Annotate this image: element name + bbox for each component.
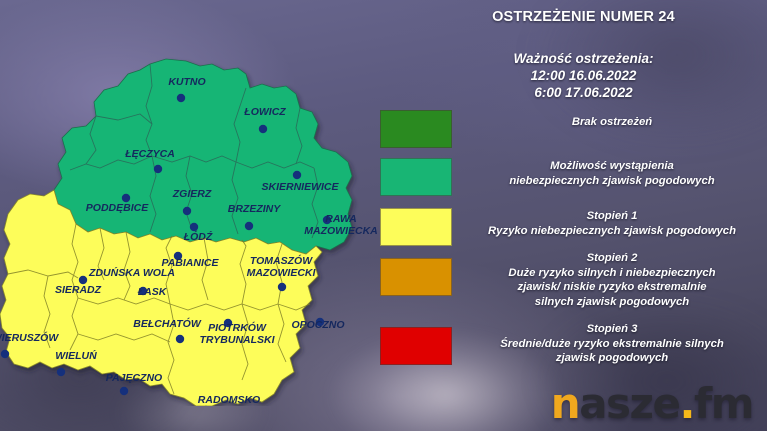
city-dot [79,276,87,284]
legend-label: Możliwość wystąpienianiebezpiecznych zja… [462,159,762,188]
city-dot [1,350,9,358]
legend-swatch [380,110,452,148]
city-label: SIERADZ [55,284,102,296]
city-label: KUTNO [168,76,205,88]
city-label: MAZOWIECKA [304,225,378,237]
city-label: PODDĘBICE [86,202,149,214]
city-dot [120,387,128,395]
city-label: MAZOWIECKI [247,267,317,279]
legend-swatch [380,158,452,196]
city-label: ŁÓDŹ [183,230,213,243]
lodz-voivodeship-map: KUTNOŁOWICZŁĘCZYCASKIERNIEWICEZGIERZPODD… [0,28,400,406]
city-dot [293,171,301,179]
legend-label-line: zjawisk/ niskie ryzyko ekstremalnie [462,280,762,295]
legend-label: Brak ostrzeżeń [462,115,762,130]
city-label: SKIERNIEWICE [261,181,339,193]
city-label: ŁOWICZ [243,106,286,118]
city-label: TOMASZÓW [250,254,313,267]
legend-swatch [380,208,452,246]
legend-label: Stopień 3Średnie/duże ryzyko ekstremalni… [462,322,762,366]
city-label: ZDUŃSKA WOLA [88,266,175,279]
city-label: ZGIERZ [172,188,212,200]
city-label: OPOCZNO [291,319,344,331]
city-label: ŁASK [137,286,168,298]
map-svg: KUTNOŁOWICZŁĘCZYCASKIERNIEWICEZGIERZPODD… [0,28,400,406]
city-dot [177,94,185,102]
legend-label: Stopień 1Ryzyko niebezpiecznych zjawisk … [462,209,762,238]
city-dot [259,125,267,133]
legend-label-line: Ryzyko niebezpiecznych zjawisk pogodowyc… [462,224,762,239]
weather-warning-graphic: KUTNOŁOWICZŁĘCZYCASKIERNIEWICEZGIERZPODD… [0,0,767,431]
city-label: BEŁCHATÓW [133,317,202,330]
city-label: BRZEZINY [228,203,281,215]
legend-label-line: zjawisk pogodowych [462,351,762,366]
city-dot [190,223,198,231]
city-label: PAJĘCZNO [106,372,162,384]
legend-label-line: Duże ryzyko silnych i niebezpiecznych [462,266,762,281]
city-dot [183,207,191,215]
legend-label-line: Brak ostrzeżeń [462,115,762,130]
city-dot [176,335,184,343]
logo-text-fm: fm [694,379,753,428]
legend-label-line: Średnie/duże ryzyko ekstremalnie silnych [462,337,762,352]
city-label: RADOMSKO [198,394,260,406]
logo-text-asze: asze [579,379,679,428]
logo-letter-n: n [551,379,579,428]
legend-label-line: Stopień 3 [462,322,762,337]
validity-from: 12:00 16.06.2022 [400,67,767,84]
warning-title: OSTRZEŻENIE NUMER 24 [400,9,767,25]
city-label: TRYBUNALSKI [199,334,275,346]
city-label: PIOTRKÓW [208,321,267,334]
legend-swatch [380,327,452,365]
legend-swatch [380,258,452,296]
logo-dot: . [679,379,693,428]
city-dot [245,222,253,230]
legend-label-line: Stopień 1 [462,209,762,224]
city-dot [154,165,162,173]
city-label: RAWA [325,213,357,225]
legend-label-line: silnych zjawisk pogodowych [462,295,762,310]
city-label: ŁĘCZYCA [124,148,175,160]
map-regions [0,59,352,406]
validity-block: Ważność ostrzeżenia: 12:00 16.06.2022 6:… [400,50,767,101]
legend-label-line: Możliwość wystąpienia [462,159,762,174]
validity-to: 6:00 17.06.2022 [400,84,767,101]
legend-label-line: niebezpiecznych zjawisk pogodowych [462,174,762,189]
city-dot [278,283,286,291]
city-label: WIERUSZÓW [0,331,59,344]
city-label: WIELUŃ [55,349,97,362]
validity-label: Ważność ostrzeżenia: [400,50,767,67]
legend-label-line: Stopień 2 [462,251,762,266]
city-dot [122,194,130,202]
legend-label: Stopień 2Duże ryzyko silnych i niebezpie… [462,251,762,309]
city-dot [57,368,65,376]
nasze-fm-logo: nasze.fm [551,383,753,425]
info-panel: OSTRZEŻENIE NUMER 24 Ważność ostrzeżenia… [400,0,767,431]
